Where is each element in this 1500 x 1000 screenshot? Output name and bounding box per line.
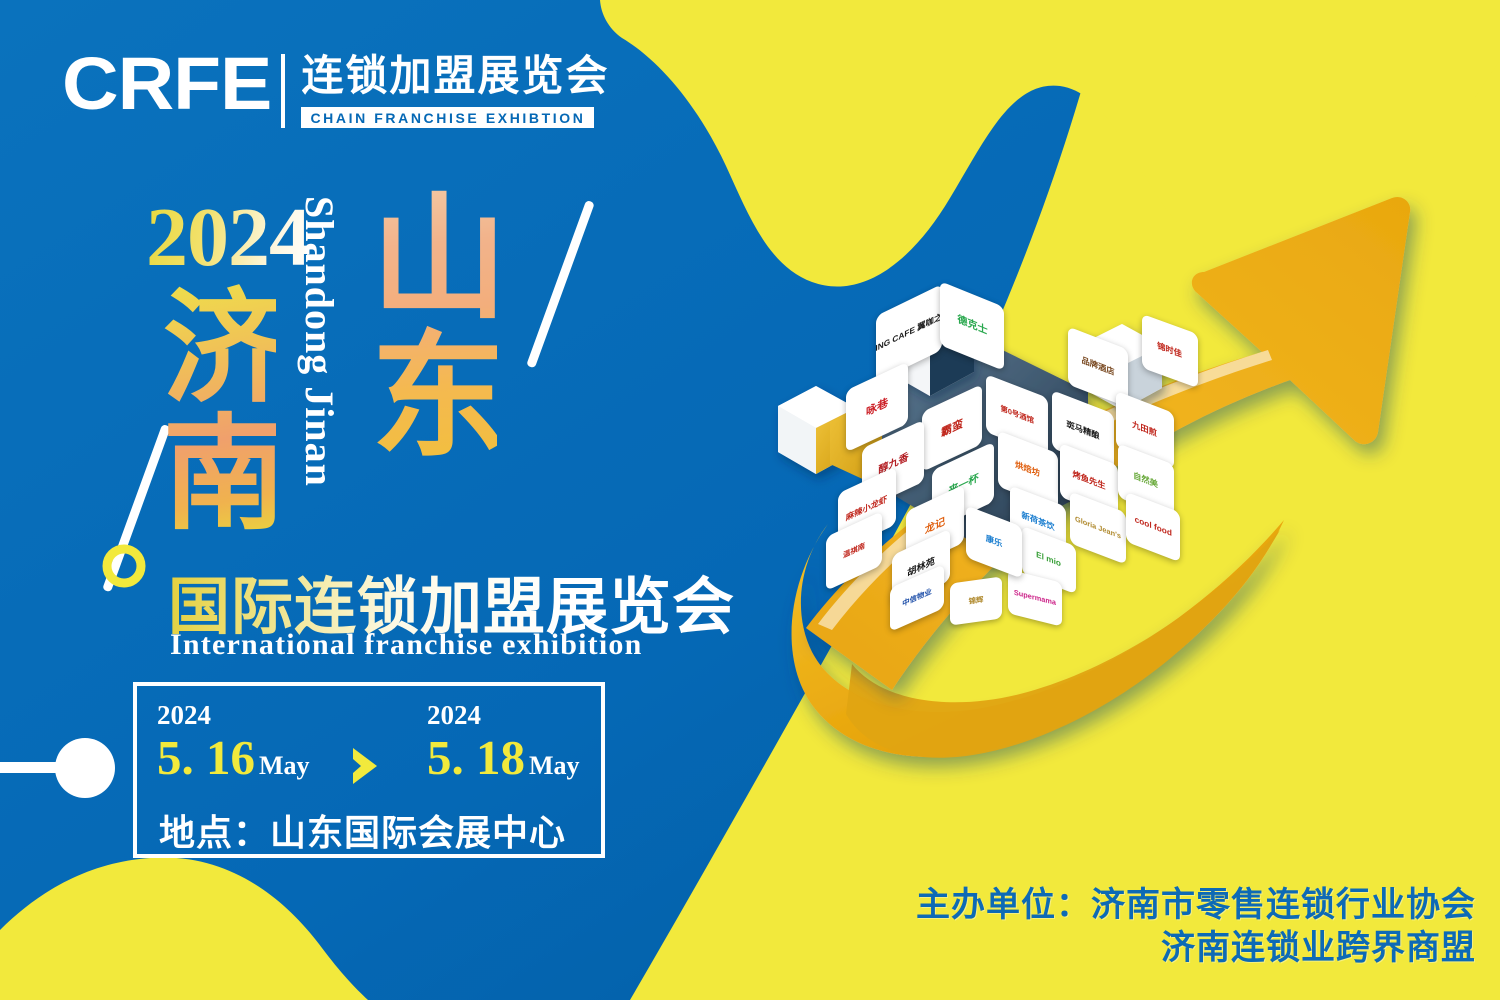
title-province-chinese: 山东: [358, 186, 497, 462]
cube-face-label: 自然美: [1134, 472, 1159, 490]
cube-face-label: cool food: [1134, 516, 1171, 539]
date-end: 2024 5. 18 May: [427, 702, 580, 782]
cube-face-label: 温祺南: [843, 542, 865, 560]
title-city-chinese: 济南: [148, 282, 276, 534]
cube-face-label: 九田煎: [1133, 421, 1158, 439]
crfe-logo: CRFE 连锁加盟展览会 CHAIN FRANCHISE EXHIBTION: [62, 52, 609, 128]
date-end-month: May: [529, 751, 580, 781]
title-location-english: Shandong Jinan: [296, 196, 343, 487]
crfe-wordmark: CRFE: [62, 52, 271, 116]
cube-face-label: 中信物业: [902, 588, 931, 609]
subtitle-english: International franchise exhibition: [170, 628, 643, 662]
date-end-day: 5. 18: [427, 733, 525, 782]
cube-face-label: Supermama: [1014, 589, 1056, 607]
cube-face-label: 锦辉: [969, 596, 984, 606]
date-range-row: 2024 5. 16 May 2024 5. 18 May: [137, 686, 601, 794]
date-start-year: 2024: [157, 702, 310, 729]
logo-divider: [281, 54, 285, 128]
cube-face-label: 康乐: [986, 534, 1003, 549]
cube-face-label: 斑马精酿: [1066, 420, 1099, 441]
cube-face-label: 霸蛮: [941, 417, 963, 439]
cube-face-label: 德克士: [957, 315, 987, 338]
date-start: 2024 5. 16 May: [157, 702, 310, 782]
cube-face-label: 锦时佳: [1158, 342, 1183, 360]
cube-face-label: 第0号酒馆: [1000, 405, 1034, 426]
logo-english-name: CHAIN FRANCHISE EXHIBTION: [310, 110, 585, 126]
cube-face-label: 烘焙坊: [1016, 461, 1041, 479]
cube-face-label: WING CAFE 翼咖之翼: [876, 308, 942, 357]
title-year: 2024: [146, 196, 310, 280]
date-start-day: 5. 16: [157, 733, 255, 782]
organizer-line-2: 济南连锁业跨界商盟: [916, 927, 1476, 970]
cube-face-label: 咏巷: [866, 396, 888, 418]
cube-face-jinhui: 锦辉: [950, 576, 1002, 625]
brand-logo-cube: WING CAFE 翼咖之翼 德克士 品牌酒店 锦时佳 咏巷 霸蛮 第0号酒馆 …: [770, 280, 1190, 620]
event-date-box: 2024 5. 16 May 2024 5. 18 May 地点：山东国际会展中: [133, 682, 605, 858]
date-start-month: May: [259, 751, 310, 781]
date-end-year: 2024: [427, 702, 580, 729]
event-venue: 地点：山东国际会展中心: [159, 804, 566, 856]
cube-face-label: Gloria Jean's: [1075, 515, 1121, 540]
organizer-block: 主办单位：济南市零售连锁行业协会 济南连锁业跨界商盟: [916, 884, 1476, 969]
logo-chinese-name: 连锁加盟展览会: [301, 54, 609, 98]
logo-english-bar: CHAIN FRANCHISE EXHIBTION: [301, 107, 594, 128]
cube-face-label: El mio: [1037, 551, 1062, 569]
poster-canvas: CRFE 连锁加盟展览会 CHAIN FRANCHISE EXHIBTION 2…: [0, 0, 1500, 1000]
cube-face-label: 品牌酒店: [1081, 356, 1114, 377]
cube-face-label: 烤鱼先生: [1072, 470, 1105, 491]
organizer-line-1: 主办单位：济南市零售连锁行业协会: [916, 884, 1476, 927]
